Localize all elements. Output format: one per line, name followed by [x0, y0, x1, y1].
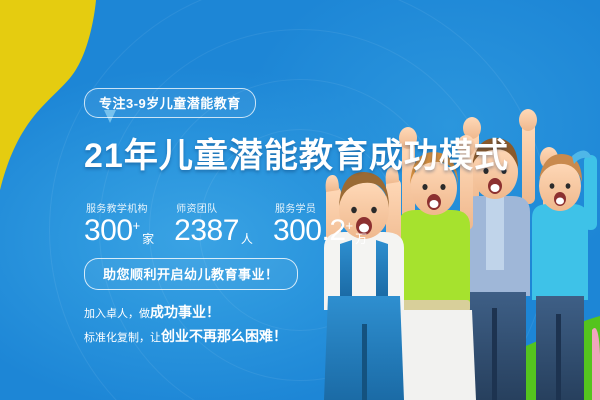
stat-unit: 家 — [142, 233, 154, 245]
promo-banner: 专注3-9岁儿童潜能教育 21年儿童潜能教育成功模式 服务教学机构 300 + … — [0, 0, 600, 400]
slogan-line-1: 加入卓人，做成功事业！ — [84, 302, 287, 322]
stat-superscript: + — [346, 219, 354, 232]
stat-superscript: + — [133, 219, 141, 232]
slogan-2-small: 标准化复制，让 — [84, 332, 161, 344]
slogan-block: 加入卓人，做成功事业！ 标准化复制，让创业不再那么困难！ — [84, 302, 287, 350]
stat-unit: 万 — [355, 233, 367, 245]
stat-label: 师资团队 — [176, 200, 253, 215]
slogan-line-2: 标准化复制，让创业不再那么困难！ — [84, 326, 287, 346]
stat-unit: 人 — [241, 233, 253, 245]
stat-item-institutions: 服务教学机构 300 + 家 — [84, 200, 154, 246]
stat-value: 2387 — [174, 216, 239, 246]
slogan-2-large: 创业不再那么困难！ — [161, 328, 287, 344]
headline: 21年儿童潜能教育成功模式 — [84, 128, 509, 177]
stat-item-teachers: 师资团队 2387 人 — [174, 200, 253, 246]
stats-row: 服务教学机构 300 + 家 师资团队 2387 人 服务学员 300.2 — [84, 200, 367, 246]
slogan-1-small: 加入卓人，做 — [84, 308, 150, 320]
stat-value: 300.2 — [273, 216, 346, 246]
stat-item-students: 服务学员 300.2 + 万 — [273, 200, 367, 246]
tagline-badge: 专注3-9岁儿童潜能教育 — [84, 88, 256, 118]
cta-button[interactable]: 助您顺利开启幼儿教育事业！ — [84, 258, 298, 290]
stat-label: 服务学员 — [275, 200, 367, 215]
stat-value: 300 — [84, 216, 133, 246]
stat-label: 服务教学机构 — [86, 200, 154, 215]
slogan-1-large: 成功事业！ — [150, 304, 220, 320]
